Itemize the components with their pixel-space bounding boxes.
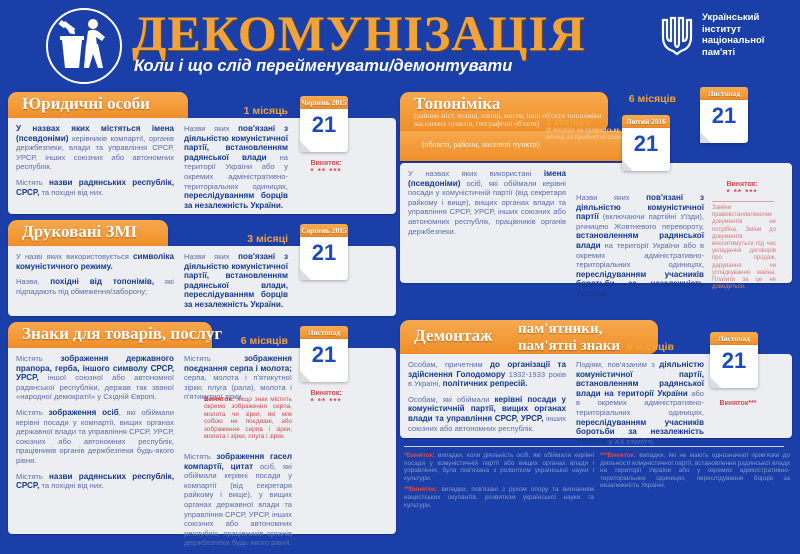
section-dismantling-title-2: пам'ятники,пам'ятні знаки xyxy=(518,321,620,355)
section-dismantling-exception: Виняток*** xyxy=(706,400,770,408)
decommunization-logo-icon xyxy=(46,8,122,84)
footnote-right: ***Виняток: випадки, які не мають однозн… xyxy=(600,452,790,490)
section-toponymy-subbar-label: (області, райони, населені пункти) xyxy=(422,140,540,149)
calendar-fold-icon xyxy=(300,269,311,280)
section-media-right-text: Назви яких пов'язані з діяльністю комуні… xyxy=(184,252,288,316)
section-trademarks-right-text-2: Містять зображення гасел компартії, цита… xyxy=(184,452,292,554)
footnote-3: ***Виняток: випадки, які не мають однозн… xyxy=(600,452,790,490)
calendar-day: 21 xyxy=(300,240,348,266)
section-media-left-text: У назві яких використовується символіка … xyxy=(16,252,174,302)
section-dismantling-left-text: Особам, причетним до організації та здій… xyxy=(408,360,566,439)
footnotes-area: *Виняток: випадки, коли діяльність осіб,… xyxy=(400,444,792,524)
section-legal-header: Юридичні особи xyxy=(8,92,188,118)
footnote-2: **Виняток: випадки, пов'язані з рухом оп… xyxy=(404,486,594,509)
calendar-month: Лютий 2016 xyxy=(622,115,670,128)
calendar-fold-icon xyxy=(622,160,633,171)
ukrainian-trident-icon xyxy=(660,14,694,60)
footnote-1: *Виняток: випадки, коли діяльність осіб,… xyxy=(404,452,594,482)
section-media-deadline: 3 місяці xyxy=(247,233,288,245)
calendar-month: Листопад 2015 xyxy=(300,326,348,339)
calendar-month: Листопад 2015 xyxy=(700,87,748,100)
section-trademarks-header: Знаки для товарів, послуг xyxy=(8,322,212,348)
section-trademarks-title: Знаки для товарів, послуг xyxy=(22,324,222,344)
section-media-calendar: Серпень 2015 21 xyxy=(300,224,348,280)
section-trademarks-inline-exception: Виняток: якщо знак містить окремо зображ… xyxy=(204,396,292,440)
calendar-fold-icon xyxy=(300,371,311,382)
calendar-fold-icon xyxy=(710,377,721,388)
calendar-month: Листопад 2015 xyxy=(710,332,758,345)
section-toponymy-exception: Виняток: * ** *** xyxy=(712,181,772,197)
section-dismantling-deadline: 6 місяців xyxy=(627,341,674,353)
man-throwing-hammer-and-sickle-into-bin-icon xyxy=(48,10,120,82)
section-trademarks-body: 6 місяців Містять зображення державного … xyxy=(8,348,396,534)
calendar-day: 21 xyxy=(710,348,758,374)
section-trademarks-exception: Виняток: * ** *** xyxy=(298,390,354,406)
section-trademarks-left-text: Містять зображення державного прапора, г… xyxy=(16,354,174,497)
section-trademarks: Знаки для товарів, послуг 6 місяців Міст… xyxy=(8,322,396,522)
section-dismantling: Демонтаж пам'ятники,пам'ятні знаки 6 міс… xyxy=(400,320,792,438)
institute-name: Українськийінститутнаціональноїпам'яті xyxy=(702,12,764,58)
section-toponymy-note: Заміни правовстановлюючих документів не … xyxy=(712,205,776,291)
infographic-page: ДЕКОМУНІЗАЦІЯ Коли і що слід перейменува… xyxy=(0,0,800,525)
section-toponymy-left-text: У назвах яких використані імена (псевдон… xyxy=(408,169,566,242)
calendar-day: 21 xyxy=(622,131,670,157)
page-title: ДЕКОМУНІЗАЦІЯ xyxy=(132,4,586,62)
page-subtitle: Коли і що слід перейменувати/демонтувати xyxy=(134,57,512,76)
calendar-day: 21 xyxy=(300,342,348,368)
section-toponymy-deadline-1: 6 місяців xyxy=(629,93,676,105)
calendar-month: Серпень 2015 xyxy=(300,224,348,237)
section-dismantling-calendar: Листопад 2015 21 xyxy=(710,332,758,388)
section-toponymy-calendar-1: Листопад 2015 21 xyxy=(700,87,748,143)
left-column: Юридичні особи 1 місяць У назвах яких мі… xyxy=(8,92,396,528)
section-legal-right-text: Назви яких пов'язані з діяльністю комуні… xyxy=(184,124,288,216)
calendar-month: Червень 2015 xyxy=(300,96,348,109)
section-print-media: Друковані ЗМІ 3 місяці У назві яких вико… xyxy=(8,220,396,316)
calendar-fold-icon xyxy=(700,132,711,143)
section-legal-body: 1 місяць У назвах яких містяться імена (… xyxy=(8,118,396,214)
section-media-header: Друковані ЗМІ xyxy=(8,220,168,246)
section-trademarks-deadline: 6 місяців xyxy=(241,335,288,347)
section-dismantling-right-text: Подіям, пов'язаним з діяльністю комуніст… xyxy=(576,360,704,452)
section-dismantling-header: Демонтаж пам'ятники,пам'ятні знаки xyxy=(400,320,658,354)
section-media-body: 3 місяці У назві яких використовується с… xyxy=(8,246,396,316)
section-dismantling-body: 6 місяців Особам, причетним до організац… xyxy=(400,354,792,438)
calendar-day: 21 xyxy=(300,112,348,138)
institute-credit: Українськийінститутнаціональноїпам'яті xyxy=(660,12,790,72)
section-toponymy: Топоніміка (райони міст, вулиці, площі, … xyxy=(400,92,792,314)
page-header: ДЕКОМУНІЗАЦІЯ Коли і що слід перейменува… xyxy=(0,0,800,92)
note-divider xyxy=(712,201,774,202)
section-media-title: Друковані ЗМІ xyxy=(22,222,137,242)
section-toponymy-body: 6 місяців Листопад 2015 21 9 місяців (6 … xyxy=(400,163,792,283)
section-legal-left-text: У назвах яких містяться імена (псевдонім… xyxy=(16,124,174,203)
section-trademarks-calendar: Листопад 2015 21 xyxy=(300,326,348,382)
section-legal-calendar: Червень 2015 21 xyxy=(300,96,348,152)
calendar-fold-icon xyxy=(300,141,311,152)
section-legal-title: Юридичні особи xyxy=(22,94,150,114)
section-legal-exception: Виняток: * ** *** xyxy=(298,160,354,176)
section-toponymy-calendar-2: Лютий 2016 21 xyxy=(622,115,670,171)
section-dismantling-title: Демонтаж xyxy=(414,326,492,346)
section-legal-deadline: 1 місяць xyxy=(244,105,288,117)
footnote-left: *Виняток: випадки, коли діяльність осіб,… xyxy=(404,452,594,509)
right-column: Топоніміка (райони міст, вулиці, площі, … xyxy=(400,92,792,524)
section-toponymy-right-text: Назви яких пов'язані з діяльністю комуні… xyxy=(576,193,704,305)
section-legal-entities: Юридичні особи 1 місяць У назвах яких мі… xyxy=(8,92,396,214)
